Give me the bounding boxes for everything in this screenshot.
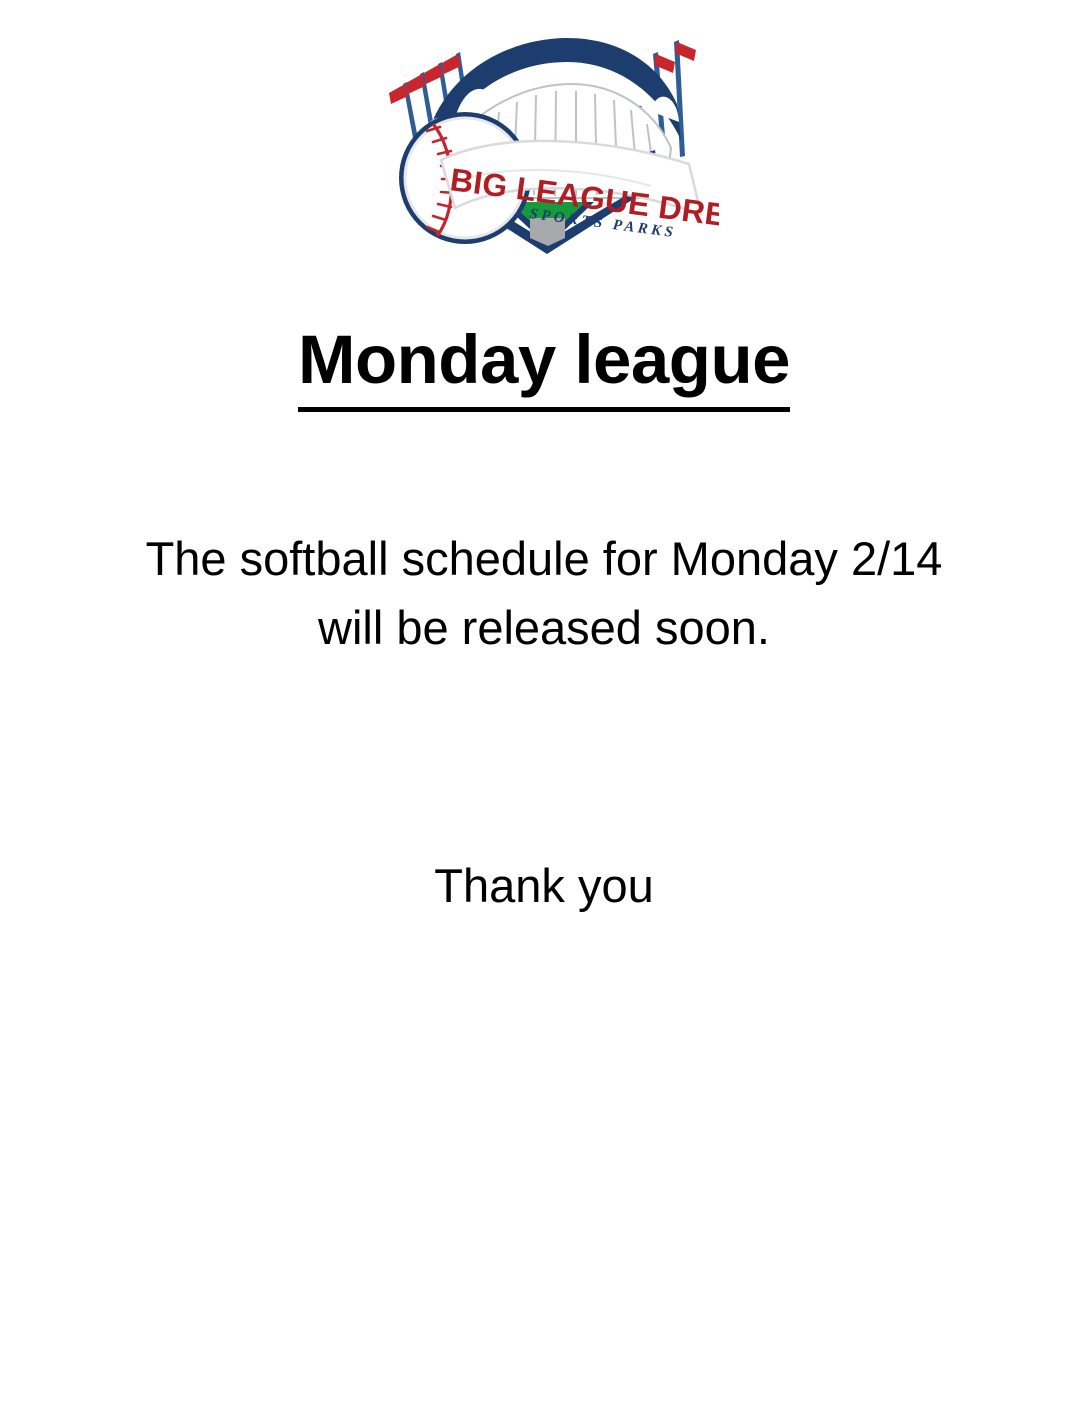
page-title: Monday league [0,318,1088,412]
page-title-text: Monday league [298,318,790,412]
logo-artwork: BIG LEAGUE DREAMS SPORTS PARKS [389,32,719,264]
body-paragraph: The softball schedule for Monday 2/14 wi… [94,524,994,662]
body-line-1: The softball schedule for Monday 2/14 [94,524,994,593]
big-league-dreams-logo: BIG LEAGUE DREAMS SPORTS PARKS [389,32,719,264]
document-page: BIG LEAGUE DREAMS SPORTS PARKS Monday le… [0,0,1088,1408]
closing-text: Thank you [94,855,994,917]
body-line-2: will be released soon. [94,593,994,662]
